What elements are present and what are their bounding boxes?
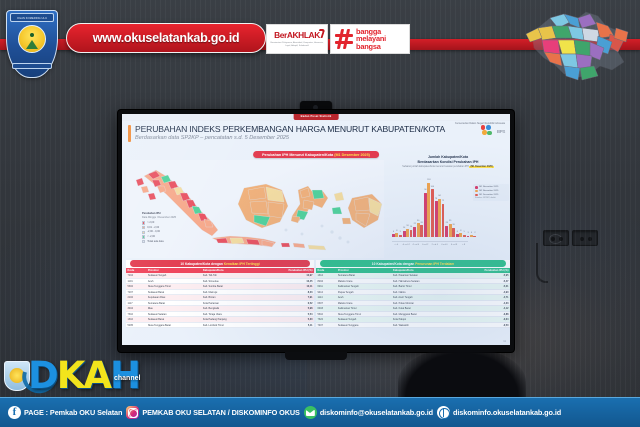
table-cell: 5,11 xyxy=(257,322,314,328)
table-cell: Sulawesi Tenggara xyxy=(336,322,391,328)
chart-x-tick-labels: < -4-4 s.d -2-2 s.d 00 s.d 22 s.d 44 s.d… xyxy=(392,244,468,246)
bar: 8 xyxy=(459,233,462,237)
bar-value-label: 18 xyxy=(406,225,408,227)
bar-group: 223026 xyxy=(413,223,423,237)
footer-item-email[interactable]: diskominfo@okuselatankab.go.id xyxy=(304,406,433,419)
legend-series-label: M1 November 2025 xyxy=(479,186,498,188)
bar-group: 96118104 xyxy=(424,183,434,237)
broadcast-header-banner: OGAN KOMERING ULU SELATAN www.okuselatan… xyxy=(0,0,640,90)
legend-series-label: M2 November 2025 xyxy=(479,190,498,192)
television: Badan Pusat Statistik PERUBAHAN INDEKS P… xyxy=(118,110,514,352)
chart-legend: M1 November 2025 M2 November 2025 M1 Des… xyxy=(473,184,509,201)
bar-value-label: 72 xyxy=(442,200,444,202)
broadcast-footer-banner: PAGE : Pemkab OKU Selatan PEMKAB OKU SEL… xyxy=(0,397,640,427)
footer-website-label: diskominfo.okuselatankab.go.id xyxy=(453,408,561,417)
bar-value-label: 26 xyxy=(420,222,422,224)
bar-value-label: 118 xyxy=(427,179,430,181)
chart-note: Sebaran jumlah kabupaten/kota menurut be… xyxy=(386,166,510,168)
bar-value-label: 96 xyxy=(424,189,426,191)
map-badge-text: Perubahan IPH Menurut Kabupaten/Kota xyxy=(262,153,334,157)
table-left-caption: 10 Kabupaten/Kota dengan Kenaikan IPH Te… xyxy=(130,260,310,267)
website-icon xyxy=(437,406,450,419)
regional-map-graphic xyxy=(520,4,638,88)
bar: 118 xyxy=(427,183,430,237)
table-cell: -3,50 xyxy=(453,322,510,328)
slide-page-number: 11 xyxy=(503,340,506,343)
website-url-pill[interactable]: www.okuselatankab.go.id xyxy=(66,23,266,53)
bar-value-label: 4 xyxy=(471,232,472,234)
footer-instagram-label: PEMKAB OKU SELATAN / DISKOMINFO OKUS xyxy=(142,408,299,417)
bar-value-label: 22 xyxy=(414,223,416,225)
legend-swatch xyxy=(142,231,145,234)
bar-group: 788472 xyxy=(435,199,445,237)
table-cell: Kab. Wakatobi xyxy=(391,322,453,328)
watermark-channel-text: channel xyxy=(114,375,140,382)
table-row: 7407Sulawesi TenggaraKab. Wakatobi-3,50 xyxy=(316,322,510,328)
chart-plot-area: 6851418162230269611810478847224292068534… xyxy=(392,176,468,246)
table-penurunan-iph: 10 Kabupaten/Kota dengan Penurunan IPH T… xyxy=(316,260,510,328)
x-tick-label: -2 s.d 0 xyxy=(411,244,420,246)
bar: 18 xyxy=(406,229,409,237)
bar-value-label: 8 xyxy=(396,230,397,232)
hash-icon xyxy=(335,29,353,49)
bar-value-label: 104 xyxy=(431,186,434,188)
bar-group: 242920 xyxy=(445,224,455,237)
bps-dots-icon xyxy=(481,125,494,138)
berakhlak-tagline: Berorientasi Pelayanan, Akuntabel, Kompe… xyxy=(269,42,325,48)
bangga-lines: bangga melayani bangsa xyxy=(356,28,386,51)
legend-label: Tidak ada data xyxy=(147,240,163,244)
bar-value-label: 30 xyxy=(417,220,419,222)
table-cell: 7407 xyxy=(316,322,336,328)
caption-highlight: Kenaikan IPH Tertinggi xyxy=(224,262,260,266)
bar-value-label: 84 xyxy=(438,195,440,197)
legend-swatch xyxy=(142,226,145,229)
bar: 20 xyxy=(452,228,455,237)
legend-source-note: Sumber: SP2KP, diolah xyxy=(475,197,507,199)
table-right-caption: 10 Kabupaten/Kota dengan Penurunan IPH T… xyxy=(320,260,506,267)
table-cell: Kab. Lombok Timur xyxy=(201,322,257,328)
map-badge-highlight: (M1 Desember 2025) xyxy=(334,153,370,157)
footer-item-instagram[interactable]: PEMKAB OKU SELATAN / DISKOMINFO OKUS xyxy=(126,406,299,419)
footer-item-website[interactable]: diskominfo.okuselatankab.go.id xyxy=(437,406,561,419)
legend-item: < -2,00 xyxy=(142,235,176,239)
crest-bottom-band xyxy=(12,63,52,69)
bar-value-label: 5 xyxy=(464,231,465,233)
bar-value-label: 5 xyxy=(400,231,401,233)
x-tick-label: < -4 xyxy=(392,244,401,246)
legend-entry: M1 Desember 2025 xyxy=(475,194,507,197)
power-cable xyxy=(536,243,548,283)
bar-value-label: 6 xyxy=(457,231,458,233)
bar: 26 xyxy=(420,225,423,237)
caption-text: 10 Kabupaten/Kota dengan xyxy=(372,262,415,266)
bar-chart-panel: Jumlah Kabupaten/Kota Berdasarkan Kondis… xyxy=(386,154,510,258)
bar: 16 xyxy=(410,230,413,237)
legend-label: < -2,00 xyxy=(147,235,155,239)
legend-dot xyxy=(475,190,478,193)
bar-value-label: 78 xyxy=(435,198,437,200)
page-title: PERUBAHAN INDEKS PERKEMBANGAN HARGA MENU… xyxy=(135,124,445,134)
bar: 5 xyxy=(399,235,402,237)
berakhlak-logo: BerAKHLAK Berorientasi Pelayanan, Akunta… xyxy=(266,24,328,54)
bar-group: 342 xyxy=(467,235,477,237)
website-url-text: www.okuselatankab.go.id xyxy=(93,31,240,45)
legend-item: 0,01 - 2,00 xyxy=(142,226,176,230)
bar-value-label: 16 xyxy=(410,226,412,228)
x-tick-label: 4 s.d 6 xyxy=(440,244,449,246)
email-icon xyxy=(304,406,317,419)
legend-label: > 2,00 xyxy=(147,221,154,225)
chart-note-highlight: (M1 Desember 2025) xyxy=(469,166,493,168)
bar: 104 xyxy=(431,189,434,237)
chart-title-line2: Berdasarkan Kondisi Perubahan IPH xyxy=(386,160,510,165)
caption-highlight: Penurunan IPH Terdalam xyxy=(415,262,454,266)
presentation-slide: Badan Pusat Statistik PERUBAHAN INDEKS P… xyxy=(122,114,510,345)
crest-dot xyxy=(30,33,34,37)
x-tick-label: > 8 xyxy=(459,244,468,246)
table-cell: Nusa Tenggara Barat xyxy=(146,322,201,328)
footer-item-facebook[interactable]: PAGE : Pemkab OKU Selatan xyxy=(8,406,122,419)
legend-item: > 2,00 xyxy=(142,221,176,225)
legend-swatch xyxy=(142,221,145,224)
legend-label: 0,01 - 2,00 xyxy=(147,226,159,230)
legend-label: -2,00 - 0,00 xyxy=(147,230,160,234)
x-tick-label: 6 s.d 8 xyxy=(450,244,459,246)
bar: 84 xyxy=(438,199,441,237)
table-body: 7204Sulawesi TengahKab. Toli-Toli10,9711… xyxy=(126,273,314,328)
bar-value-label: 20 xyxy=(452,224,454,226)
page-subtitle: Berdasarkan data SP2KP – pencatatan s.d.… xyxy=(135,135,289,141)
map-legend: Perubahan IPH Data Minggu I Desember 202… xyxy=(142,212,176,243)
legend-dot xyxy=(475,194,478,197)
map-legend-subtitle: Data Minggu I Desember 2025 xyxy=(142,216,176,220)
map-section-badge: Perubahan IPH Menurut Kabupaten/Kota (M1… xyxy=(253,151,379,158)
x-tick-label: 0 s.d 2 xyxy=(421,244,430,246)
table-kenaikan-iph: 10 Kabupaten/Kota dengan Kenaikan IPH Te… xyxy=(126,260,314,328)
slide-source-tag: Badan Pusat Statistik xyxy=(294,114,339,120)
bar: 24 xyxy=(445,226,448,237)
table-body: 1312Sumatera BaratKab. Pasaman Selatan-5… xyxy=(316,273,510,328)
legend-entry: M1 November 2025 xyxy=(475,186,507,189)
footer-facebook-label: PAGE : Pemkab OKU Selatan xyxy=(24,408,122,417)
legend-dot xyxy=(475,186,478,189)
legend-item: -2,00 - 0,00 xyxy=(142,230,176,234)
berakhlak-wordmark: BerAKHLAK xyxy=(274,30,320,40)
table-row: 5205Nusa Tenggara BaratKab. Lombok Timur… xyxy=(126,322,314,328)
government-crest-logo: OGAN KOMERING ULU SELATAN xyxy=(6,10,58,78)
x-tick-label: -4 s.d -2 xyxy=(402,244,411,246)
bar-group: 141816 xyxy=(403,229,413,237)
bar-value-label: 14 xyxy=(403,227,405,229)
legend-entry: M2 November 2025 xyxy=(475,190,507,193)
bangga-line3: bangsa xyxy=(356,43,386,51)
chart-title: Jumlah Kabupaten/Kota Berdasarkan Kondis… xyxy=(386,155,510,164)
bar-group: 685 xyxy=(392,233,402,237)
table-cell: 5205 xyxy=(126,322,146,328)
data-table: KodeProvinsiKabupaten/KotaPerubahan IPH … xyxy=(126,268,314,328)
bar-value-label: 24 xyxy=(446,222,448,224)
bangga-melayani-bangsa-logo: bangga melayani bangsa xyxy=(330,24,410,54)
brand-wordmark: BPS xyxy=(497,129,505,134)
data-table: KodeProvinsiKabupaten/KotaPerubahan IPH … xyxy=(316,268,510,328)
legend-series-label: M1 Desember 2025 xyxy=(479,194,498,196)
legend-item: Tidak ada data xyxy=(142,240,176,244)
chart-note-text: Sebaran jumlah kabupaten/kota menurut be… xyxy=(402,166,469,168)
tv-screen: Badan Pusat Statistik PERUBAHAN INDEKS P… xyxy=(122,114,510,345)
caption-text: 10 Kabupaten/Kota dengan xyxy=(180,262,223,266)
slide-header: PERUBAHAN INDEKS PERKEMBANGAN HARGA MENU… xyxy=(122,121,510,147)
brand-logos: BPS xyxy=(481,125,505,138)
indonesia-choropleth-map: Perubahan IPH Data Minggu I Desember 202… xyxy=(126,160,384,258)
bar: 5 xyxy=(463,235,466,237)
bar-value-label: 29 xyxy=(449,220,451,222)
bar-value-label: 2 xyxy=(474,232,475,234)
chart-bars: 6851418162230269611810478847224292068534… xyxy=(392,179,468,237)
instagram-icon xyxy=(126,406,139,419)
bar: 8 xyxy=(395,233,398,237)
crest-top-label: OGAN KOMERING ULU SELATAN xyxy=(10,13,54,22)
crest-triangle xyxy=(26,40,38,49)
footer-email-label: diskominfo@okuselatankab.go.id xyxy=(320,408,433,417)
tv-stand xyxy=(285,352,347,360)
x-tick-label: 2 s.d 4 xyxy=(430,244,439,246)
channel-watermark: DKAH channel xyxy=(2,353,178,399)
title-accent-bar xyxy=(128,125,131,142)
bar: 2 xyxy=(473,236,476,237)
legend-swatch xyxy=(142,235,145,238)
bar: 22 xyxy=(413,227,416,237)
bar-group: 685 xyxy=(456,233,466,237)
bar: 72 xyxy=(442,204,445,237)
wall-socket xyxy=(572,230,598,246)
bar-value-label: 8 xyxy=(460,230,461,232)
legend-swatch xyxy=(142,240,145,243)
facebook-icon xyxy=(8,406,21,419)
bar-value-label: 6 xyxy=(393,231,394,233)
bar-value-label: 3 xyxy=(467,232,468,234)
